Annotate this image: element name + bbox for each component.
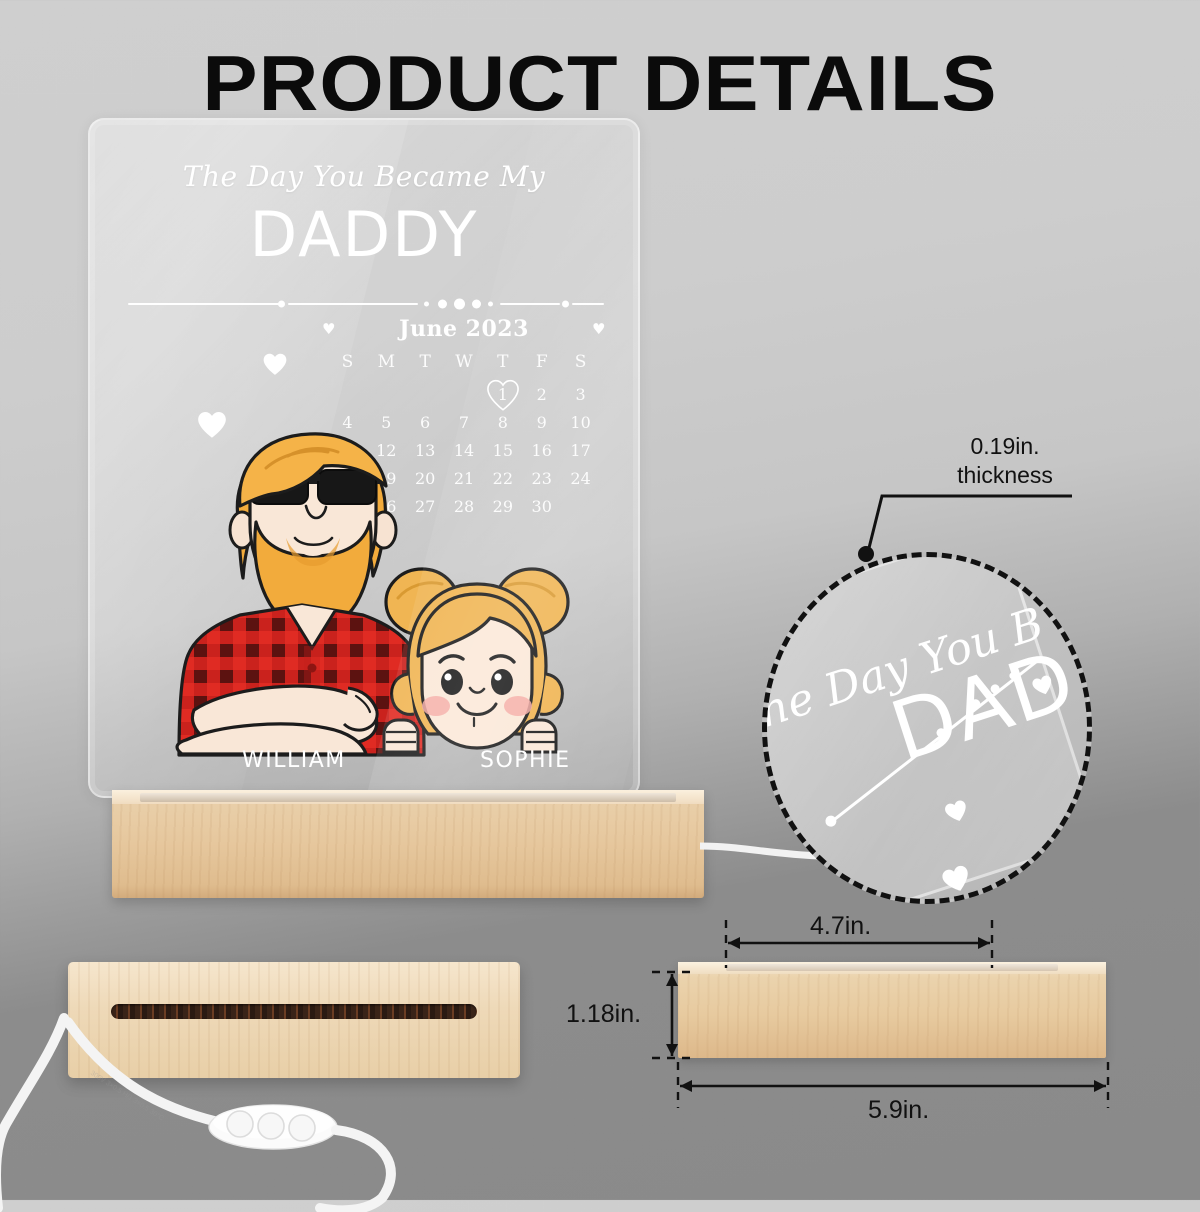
switch-button-1[interactable] xyxy=(227,1111,253,1137)
product-details-page: PRODUCT DETAILS The Day You Became My DA… xyxy=(0,0,1200,1200)
calendar-month-year: June 2023 xyxy=(399,316,529,342)
decorative-divider xyxy=(128,298,600,310)
base-height-label: 1.18in. xyxy=(566,1000,641,1029)
calendar-day-cell: 15 xyxy=(483,441,522,460)
switch-button-2[interactable] xyxy=(258,1113,284,1139)
calendar-day-highlighted: 1 xyxy=(483,385,522,404)
calendar-weekday-header: S xyxy=(328,352,367,376)
calendar-blank-cell xyxy=(328,385,367,404)
inline-switch xyxy=(209,1105,337,1149)
heart-icon: ♥ xyxy=(322,320,336,338)
calendar-blank-cell xyxy=(406,385,445,404)
calendar-weekday-header: T xyxy=(406,352,445,376)
calendar-day-cell: 29 xyxy=(483,497,522,516)
calendar-day-cell: 28 xyxy=(445,497,484,516)
adult-name-label: WILLIAM xyxy=(242,748,346,773)
calendar-day-cell: 10 xyxy=(561,413,600,432)
thickness-label: 0.19in. thickness xyxy=(890,432,1120,490)
calendar-blank-cell xyxy=(445,385,484,404)
thickness-word: thickness xyxy=(890,461,1120,490)
calendar-day-cell: 24 xyxy=(561,469,600,488)
acrylic-plaque: The Day You Became My DADDY xyxy=(88,118,640,798)
power-cable-with-switch: 300V 3×0.5 H/1 3×0.5 30°C xyxy=(0,1012,430,1212)
base-width-label: 5.9in. xyxy=(868,1096,929,1125)
calendar-header: ♥ June 2023 ♥ xyxy=(328,316,600,342)
calendar-day-cell: 30 xyxy=(522,497,561,516)
calendar-day-cell: 22 xyxy=(483,469,522,488)
calendar-day-cell: 2 xyxy=(522,385,561,404)
magnifier-content: The Day You B DADD xyxy=(762,552,1092,904)
calendar-blank-cell xyxy=(367,385,406,404)
wooden-base-main xyxy=(112,790,704,898)
plaque-script-headline: The Day You Became My xyxy=(90,160,638,193)
calendar-weekday-header: T xyxy=(483,352,522,376)
calendar-day-cell: 8 xyxy=(483,413,522,432)
calendar-day-cell: 9 xyxy=(522,413,561,432)
character-illustration xyxy=(90,410,640,770)
thickness-leader-line xyxy=(840,486,1100,586)
thickness-magnifier: The Day You B DADD xyxy=(762,552,1092,904)
decorative-heart-icon xyxy=(262,352,288,376)
calendar-day-cell: 23 xyxy=(522,469,561,488)
calendar-day-cell: 3 xyxy=(561,385,600,404)
heart-outline-icon xyxy=(485,378,521,412)
thickness-value: 0.19in. xyxy=(890,432,1120,461)
switch-button-3[interactable] xyxy=(289,1115,315,1141)
heart-icon: ♥ xyxy=(592,320,606,338)
calendar-day-cell: 16 xyxy=(522,441,561,460)
page-title: PRODUCT DETAILS xyxy=(0,38,1200,129)
plaque-big-headline: DADDY xyxy=(90,198,638,271)
base-acrylic-slot xyxy=(140,793,676,802)
child-name-label: SOPHIE xyxy=(480,748,570,773)
calendar-weekday-header: M xyxy=(367,352,406,376)
slot-width-label: 4.7in. xyxy=(810,912,871,941)
calendar-weekday-header: S xyxy=(561,352,600,376)
plaque-surface: The Day You Became My DADDY xyxy=(88,118,640,798)
calendar-day-cell: 21 xyxy=(445,469,484,488)
calendar-weekday-header: F xyxy=(522,352,561,376)
calendar-weekday-header: W xyxy=(445,352,484,376)
calendar-day-cell: 17 xyxy=(561,441,600,460)
